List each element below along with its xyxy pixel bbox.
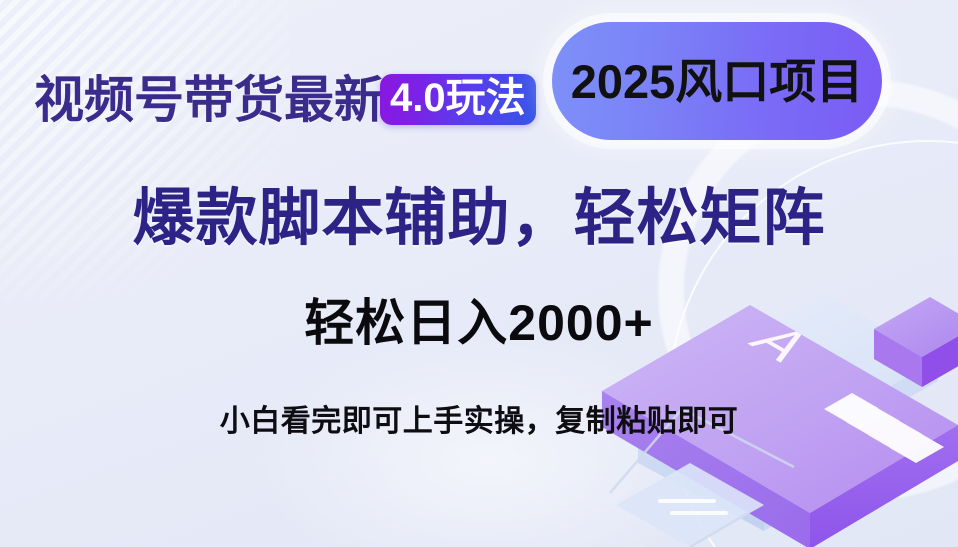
headline-row-4: 小白看完即可上手实操，复制粘贴即可: [0, 407, 958, 437]
income-claim-text: 轻松日入2000+: [304, 298, 653, 348]
soft-glow-decor: [250, 330, 730, 547]
year-project-pill-label: 2025风口项目: [571, 58, 864, 105]
version-badge: 4.0玩法: [380, 74, 536, 125]
iso-blue-slab-back: [638, 373, 878, 531]
headline-row-3: 轻松日入2000+: [0, 298, 958, 348]
year-project-pill: 2025风口项目: [552, 22, 882, 140]
subtext-beginner-friendly: 小白看完即可上手实操，复制粘贴即可: [220, 407, 739, 437]
promo-poster: A: [0, 0, 958, 547]
headline-row-1: 视频号带货最新 4.0玩法: [34, 74, 536, 125]
diagonal-stripes-decor: [0, 0, 290, 300]
main-headline-text: 爆款脚本辅助，轻松矩阵: [132, 188, 825, 250]
headline-row-2: 爆款脚本辅助，轻松矩阵: [0, 188, 958, 250]
line1-prefix-text: 视频号带货最新: [34, 75, 384, 125]
